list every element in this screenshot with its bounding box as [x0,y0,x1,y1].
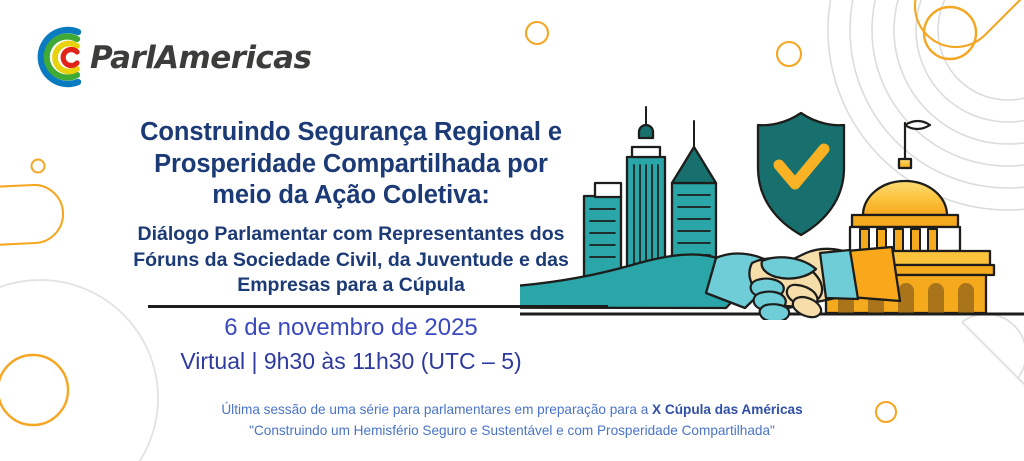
orange-circle-outline-icon-3 [924,7,976,59]
title-line-2: Prosperidade Compartilhada por [58,149,644,181]
orange-pill-outline-icon [915,0,1024,47]
title-line-3: meio da Ação Coletiva: [58,180,644,212]
gray-pill-outline-icon [962,314,1024,440]
event-date: 6 de novembro de 2025 [58,313,644,343]
orange-circle-outline-icon-1 [526,22,548,44]
orange-circle-outline-icon-4 [32,160,45,173]
page-title: Construindo Segurança Regional e Prosper… [58,117,644,212]
footnote-line-1: Última sessão de uma série para parlamen… [62,399,962,420]
event-place-time: Virtual | 9h30 às 11h30 (UTC – 5) [58,347,644,376]
footnote-prefix: Última sessão de uma série para parlamen… [221,402,652,417]
parlamericas-logo: ParlAmericas [32,26,302,88]
subtitle-line-2: Fóruns da Sociedade Civil, da Juventude … [58,248,644,274]
orange-pill-outline-bottom-icon [0,185,63,248]
subtitle-line-1: Diálogo Parlamentar com Representantes d… [58,222,644,248]
page-subtitle: Diálogo Parlamentar com Representantes d… [58,222,644,299]
footnote-line-2: "Construindo um Hemisfério Seguro e Sust… [62,420,962,441]
subtitle-line-3: Empresas para a Cúpula [58,273,644,299]
event-banner: ParlAmericas [0,0,1024,461]
title-line-1: Construindo Segurança Regional e [58,117,644,149]
brand-wordmark: ParlAmericas [90,40,311,76]
footnote: Última sessão de uma série para parlamen… [62,399,962,441]
footnote-summit-name: X Cúpula das Américas [652,402,803,417]
horizontal-divider [148,305,608,308]
parlamericas-arcs-logo-icon [32,26,94,88]
orange-circle-outline-icon-2 [777,42,801,66]
shield-check-icon [758,113,844,235]
